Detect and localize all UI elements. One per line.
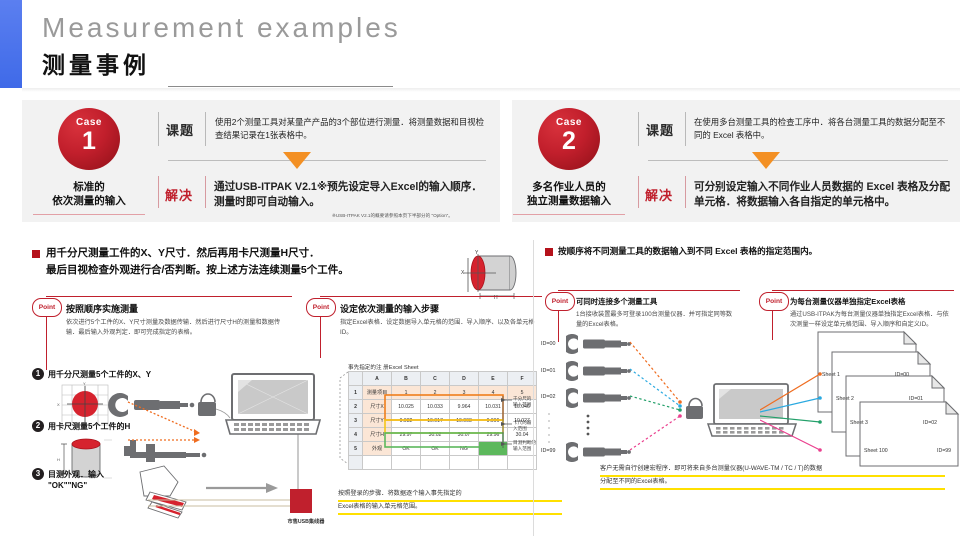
workpiece-diagram: Y X H bbox=[448, 250, 528, 302]
cell-c5[interactable]: OK bbox=[421, 442, 450, 456]
left-heading-bullet-icon bbox=[32, 250, 40, 258]
cell-d3[interactable]: 10.008 bbox=[450, 414, 479, 428]
micrometer-stack-icons bbox=[566, 334, 632, 464]
case-2-solution-divider-left bbox=[638, 176, 639, 208]
sheet-3-id: ID=02 bbox=[923, 420, 937, 426]
device-id-99-label: ID=99 bbox=[541, 448, 556, 454]
svg-text:Y: Y bbox=[475, 250, 479, 256]
svg-text:H: H bbox=[57, 457, 60, 462]
left-highlight-underline-1 bbox=[338, 500, 562, 502]
left-point-1-badge: Point bbox=[32, 298, 62, 317]
svg-text:Y: Y bbox=[83, 382, 86, 386]
cell-a6[interactable] bbox=[363, 456, 392, 470]
row-header-5: 5 bbox=[349, 442, 363, 456]
tool-to-receiver-arrows bbox=[120, 396, 210, 452]
right-point-2-badge: Point bbox=[759, 292, 789, 311]
sheet-100-id: ID=99 bbox=[937, 448, 951, 454]
device-id-01-label: ID=01 bbox=[541, 368, 556, 374]
right-highlight-underline-1 bbox=[600, 475, 945, 477]
left-step-2-text: 用卡尺测量5个工件的H bbox=[48, 421, 130, 432]
cell-e2[interactable]: 10.031 bbox=[479, 400, 508, 414]
right-point-2-rule bbox=[772, 290, 954, 291]
case-1-solution-text: 通过USB-ITPAK V2.1※预先设定导入Excel的输入顺序．测量时即可自… bbox=[214, 180, 486, 210]
row-header-3: 3 bbox=[349, 414, 363, 428]
col-header-a: A bbox=[363, 372, 392, 386]
cell-e5[interactable] bbox=[479, 442, 508, 456]
col-header-d: D bbox=[450, 372, 479, 386]
cell-b5[interactable]: OK bbox=[392, 442, 421, 456]
usb-hub-caption: 市售USB集线器 bbox=[276, 518, 336, 525]
row-5-label: 外观 bbox=[363, 442, 392, 456]
case-1-subtitle-line1: 标准的 bbox=[30, 180, 148, 194]
left-point-2-body: 指定Excel表格．设定数据导入单元格的范围．导入顺序、以及各单元格ID。 bbox=[340, 318, 540, 338]
sheet-1-id: ID=00 bbox=[895, 372, 909, 378]
cell-b4[interactable]: 29.97 bbox=[392, 428, 421, 442]
annotation-caliper-range: 卡尺的输入范围 bbox=[513, 420, 547, 432]
excel-table[interactable]: A B C D E F 1 测量项目 1 2 3 4 5 2 尺寸X 10.02… bbox=[348, 371, 537, 470]
left-heading-line2: 最后目视检查外观进行合/否判断。按上述方法连续测量5个工件。 bbox=[46, 262, 446, 279]
sheet-1-name: Sheet 1 bbox=[822, 372, 840, 378]
case-1-solution-divider-left bbox=[158, 176, 159, 208]
sheet-2-name: Sheet 2 bbox=[836, 396, 854, 402]
case-2-subtitle-rule bbox=[513, 214, 625, 215]
left-highlight-line2: Excel表格的输入单元格范围。 bbox=[338, 503, 421, 510]
case-2-subtitle-line2: 独立测量数据输入 bbox=[510, 194, 628, 208]
page-title-cn: 测量事例 bbox=[42, 46, 150, 80]
table-row: 4 尺寸H 29.97 30.02 30.07 29.96 30.04 bbox=[349, 428, 537, 442]
row-header-blank bbox=[349, 456, 363, 470]
device-to-receiver-lines bbox=[628, 338, 690, 468]
row-header-4: 4 bbox=[349, 428, 363, 442]
cell-e3[interactable]: 9.996 bbox=[479, 414, 508, 428]
case-1-separator bbox=[168, 160, 486, 161]
case-1-problem-divider-left bbox=[158, 112, 159, 146]
case-1-solution-label: 解决 bbox=[165, 185, 193, 204]
case-1-badge: Case 1 bbox=[58, 108, 120, 170]
right-section-heading: 按顺序将不同测量工具的数据输入到不同 Excel 表格的指定范围内。 bbox=[558, 244, 958, 258]
case-1-subtitle-rule bbox=[33, 214, 145, 215]
usb-hub-icon bbox=[288, 488, 322, 520]
case-2-solution-label: 解决 bbox=[645, 185, 673, 204]
row-1-label: 测量项目 bbox=[363, 386, 392, 400]
case-1-subtitle-line2: 依次测量的输入 bbox=[30, 194, 148, 208]
case-1-solution-divider-right bbox=[205, 176, 206, 208]
right-highlight-line2: 分配至不同的Excel表格。 bbox=[600, 478, 671, 485]
case-2-badge: Case 2 bbox=[538, 108, 600, 170]
cell-c1[interactable]: 2 bbox=[421, 386, 450, 400]
receiver-to-sheets-lines bbox=[760, 366, 824, 462]
cell-c2[interactable]: 10.033 bbox=[421, 400, 450, 414]
row-header-1: 1 bbox=[349, 386, 363, 400]
cell-b6[interactable] bbox=[392, 456, 421, 470]
col-header-b: B bbox=[392, 372, 421, 386]
left-point-2-title: 设定依次测量的输入步骤 bbox=[340, 302, 439, 315]
row-4-label: 尺寸H bbox=[363, 428, 392, 442]
cell-b1[interactable]: 1 bbox=[392, 386, 421, 400]
left-point-1-title: 按照顺序实施测量 bbox=[66, 302, 138, 315]
left-highlight-underline-2 bbox=[338, 513, 562, 515]
left-step-3-text: 目测外观．输入"OK""NG" bbox=[48, 469, 128, 491]
column-divider bbox=[533, 240, 534, 536]
right-heading-bullet-icon bbox=[545, 248, 553, 256]
left-point-2-badge: Point bbox=[306, 298, 336, 317]
case-1-problem-text: 使用2个测量工具对某量产产品的3个部位进行测量．将测量数据和目视检查结果记录在1… bbox=[215, 116, 490, 142]
table-row: 1 测量项目 1 2 3 4 5 bbox=[349, 386, 537, 400]
laptop-illustration bbox=[196, 372, 324, 450]
sheet-100-page bbox=[860, 402, 958, 466]
cell-b2[interactable]: 10.025 bbox=[392, 400, 421, 414]
cell-d2[interactable]: 9.964 bbox=[450, 400, 479, 414]
row-3-label: 尺寸Y bbox=[363, 414, 392, 428]
left-point-1-body: 依次进行5个工件的X、Y尺寸测量及数据传输．然后进行尺寸H的测量和数据传输．最后… bbox=[66, 318, 288, 338]
cell-d1[interactable]: 3 bbox=[450, 386, 479, 400]
sheet-100-name: Sheet 100 bbox=[864, 448, 888, 454]
case-2-problem-divider-right bbox=[685, 112, 686, 146]
case-2-solution-text: 可分别设定输入不同作业人员数据的 Excel 表格及分配单元格．将数据输入各自指… bbox=[694, 180, 952, 210]
row-2-label: 尺寸X bbox=[363, 400, 392, 414]
cell-c3[interactable]: 10.017 bbox=[421, 414, 450, 428]
header-shadow bbox=[22, 88, 960, 92]
case-1-problem-label: 课题 bbox=[166, 120, 194, 139]
cell-c4[interactable]: 30.02 bbox=[421, 428, 450, 442]
case-2-problem-text: 在使用多台测量工具的检查工序中．将各台测量工具的数据分配至不同的 Excel 表… bbox=[694, 116, 952, 142]
svg-text:X: X bbox=[57, 402, 60, 407]
case-2-problem-divider-left bbox=[638, 112, 639, 146]
case-2-badge-number: 2 bbox=[538, 130, 600, 152]
case-2-arrow-icon bbox=[752, 152, 780, 169]
cell-e1[interactable]: 4 bbox=[479, 386, 508, 400]
cell-c6[interactable] bbox=[421, 456, 450, 470]
left-point-2-rule bbox=[320, 296, 542, 297]
table-row: 2 尺寸X 10.025 10.033 9.964 10.031 10.046 bbox=[349, 400, 537, 414]
right-point-1-rule bbox=[558, 290, 740, 291]
page-title-en: Measurement examples bbox=[42, 12, 401, 44]
sheet-2-id: ID=01 bbox=[909, 396, 923, 402]
device-ellipsis-dots bbox=[545, 410, 553, 448]
left-highlight-line1: 按照登录的步骤．将数据逐个输入事先指定的 bbox=[338, 490, 462, 497]
case-2-problem-label: 课题 bbox=[646, 120, 674, 139]
table-row: 3 尺寸Y 9.982 10.017 10.008 9.996 10.027 bbox=[349, 414, 537, 428]
right-highlight-underline-2 bbox=[600, 488, 945, 490]
case-1-problem-divider-right bbox=[205, 112, 206, 146]
header-accent-bar bbox=[0, 0, 22, 88]
table-row-empty bbox=[349, 456, 537, 470]
case-2-subtitle-line1: 多名作业人员的 bbox=[510, 180, 628, 194]
table-header-row: A B C D E F bbox=[349, 372, 537, 386]
case-2-solution-divider-right bbox=[685, 176, 686, 208]
case-1-arrow-icon bbox=[283, 152, 311, 169]
right-point-1-title: 可同时连接多个测量工具 bbox=[576, 296, 657, 307]
left-point-1-rule bbox=[46, 296, 292, 297]
col-header-c: C bbox=[421, 372, 450, 386]
device-id-02-label: ID=02 bbox=[541, 394, 556, 400]
sheet-3-name: Sheet 3 bbox=[850, 420, 868, 426]
row-header-2: 2 bbox=[349, 400, 363, 414]
left-step-1-text: 用千分尺测量5个工件的X、Y bbox=[48, 369, 151, 380]
right-point-2-title: 为每台测量仪器单独指定Excel表格 bbox=[790, 296, 905, 307]
left-step-1-number: 1 bbox=[32, 368, 44, 380]
right-point-1-badge: Point bbox=[545, 292, 575, 311]
cell-d6[interactable] bbox=[450, 456, 479, 470]
cell-d4[interactable]: 30.07 bbox=[450, 428, 479, 442]
left-step-2-number: 2 bbox=[32, 420, 44, 432]
left-section-heading: 用千分尺测量工件的X、Y尺寸．然后再用卡尺测量H尺寸． 最后目视检查外观进行合/… bbox=[46, 245, 446, 279]
right-point-1-body: 1台接收装置最多可登录100台测量仪器．并可指定同等数量的Excel表格。 bbox=[576, 310, 738, 330]
right-highlight-line1: 客户无需自行创建宏程序．即可将来自多台测量仪器(U-WAVE-TM / TC /… bbox=[600, 465, 822, 472]
right-point-2-body: 通过USB-ITPAK为每台测量仪器单独指定Excel表格．与依次测量一样设定单… bbox=[790, 310, 950, 330]
case-1-footnote: ※USB-ITPAK V2.1的概要请参照本页下半部分的 "Option"。 bbox=[332, 213, 453, 219]
case-2-separator bbox=[648, 160, 948, 161]
left-heading-line1: 用千分尺测量工件的X、Y尺寸．然后再用卡尺测量H尺寸． bbox=[46, 245, 446, 262]
col-header-e: E bbox=[479, 372, 508, 386]
case-2-subtitle: 多名作业人员的 独立测量数据输入 bbox=[510, 180, 628, 208]
corner-cell bbox=[349, 372, 363, 386]
cell-e6[interactable] bbox=[479, 456, 508, 470]
device-id-00-label: ID=00 bbox=[541, 341, 556, 347]
header-rule bbox=[168, 86, 393, 87]
case-1-subtitle: 标准的 依次测量的输入 bbox=[30, 180, 148, 208]
table-row: 5 外观 OK OK NG bbox=[349, 442, 537, 456]
cell-e4[interactable]: 29.96 bbox=[479, 428, 508, 442]
cell-b3[interactable]: 9.982 bbox=[392, 414, 421, 428]
left-step-3-number: 3 bbox=[32, 468, 44, 480]
case-1-badge-number: 1 bbox=[58, 130, 120, 152]
cell-d5[interactable]: NG bbox=[450, 442, 479, 456]
